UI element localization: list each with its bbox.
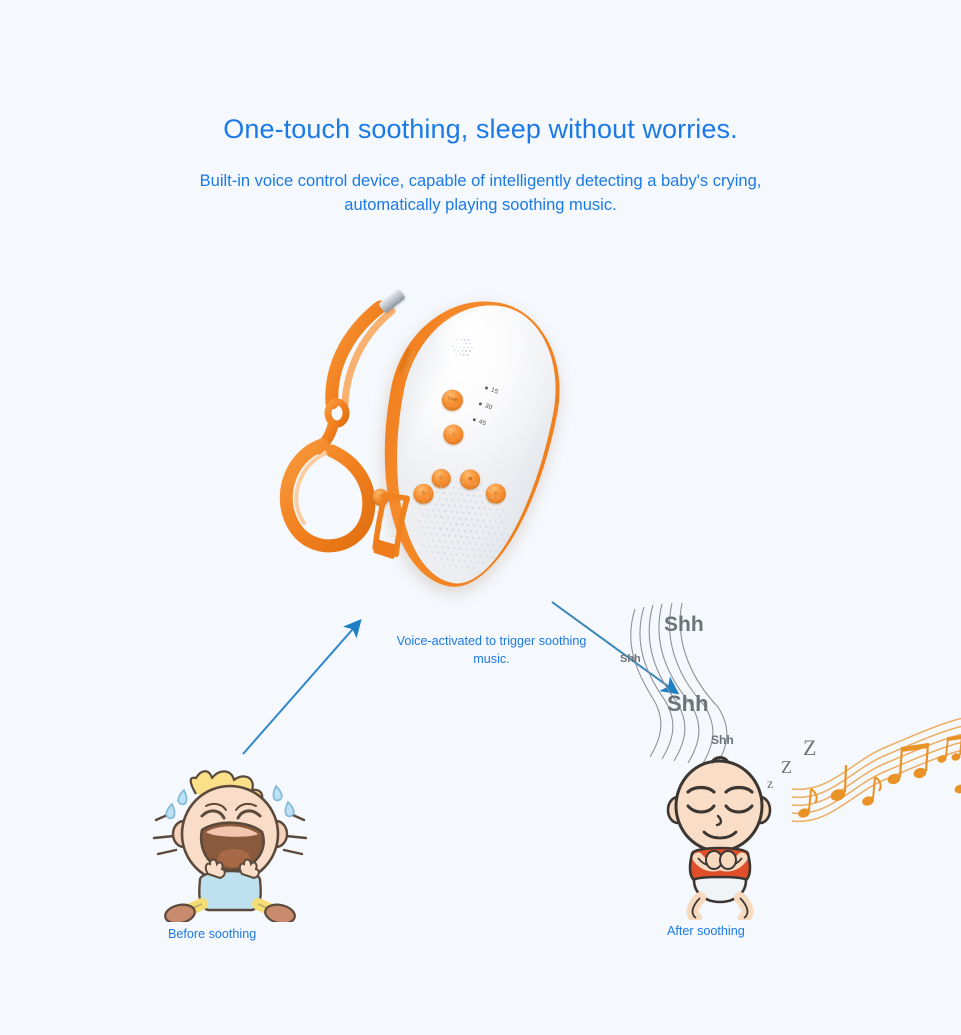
led-dot-icon (472, 418, 476, 422)
caption-after-soothing: After soothing (667, 924, 745, 938)
device-illustration: TIME ♫ ⏻ ❆ ♬ ↻ ☉ 15 30 45 (270, 285, 740, 615)
device-stand (372, 490, 428, 566)
shh-text: Shh (664, 613, 704, 637)
shh-text: Shh (620, 653, 641, 665)
led-dot-icon (478, 402, 482, 406)
shh-text: Shh (667, 691, 709, 717)
page-title: One-touch soothing, sleep without worrie… (0, 113, 961, 145)
crying-baby-illustration-icon (140, 742, 320, 922)
shh-text: Shh (711, 733, 734, 747)
caption-before-soothing: Before soothing (168, 927, 256, 941)
led-dot-icon (485, 386, 489, 390)
header-block: One-touch soothing, sleep without worrie… (0, 0, 961, 217)
page-subtitle: Built-in voice control device, capable o… (161, 170, 801, 217)
sleeping-baby-illustration-icon (638, 748, 813, 920)
microphone-grille-icon (451, 338, 476, 359)
